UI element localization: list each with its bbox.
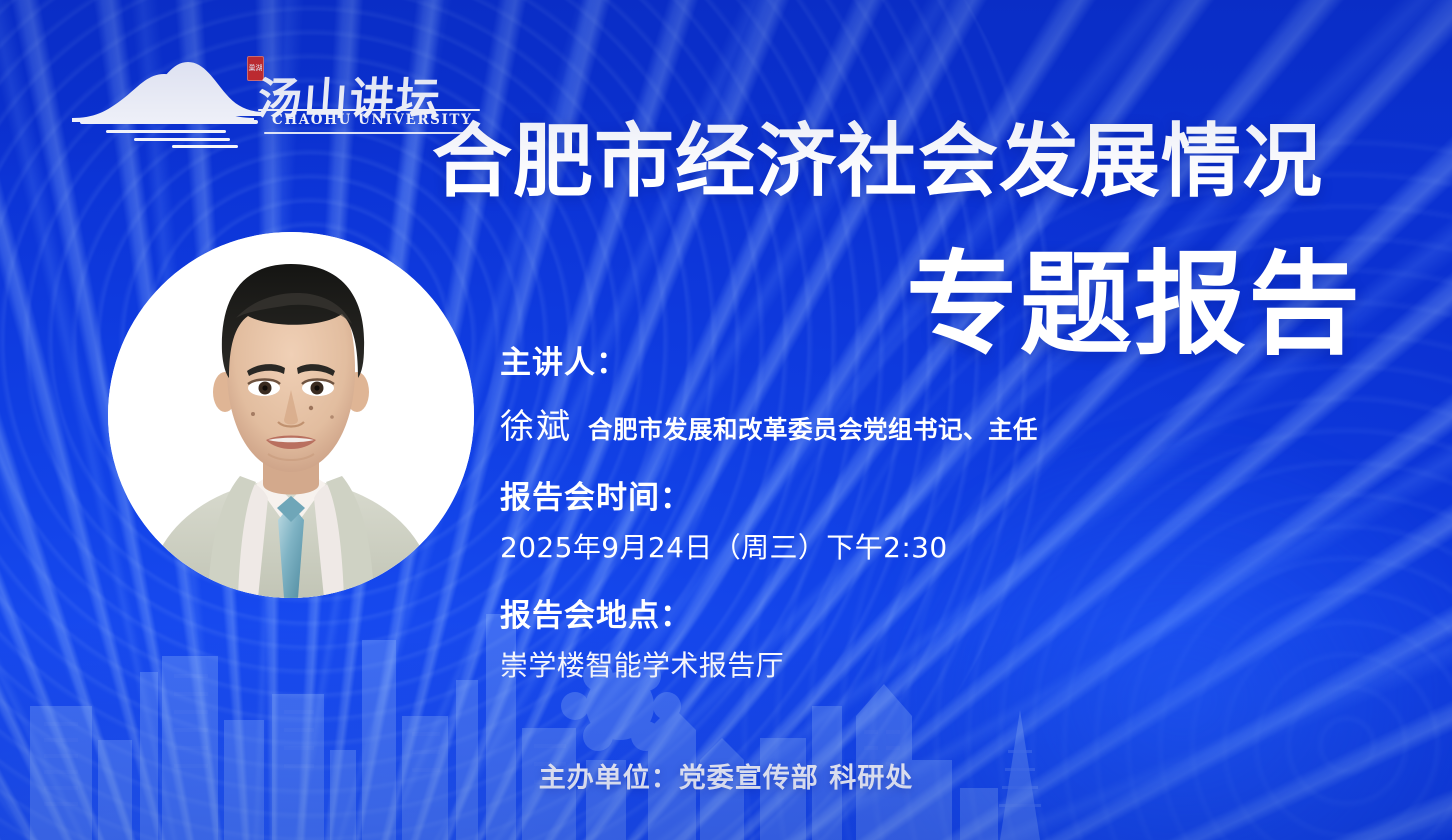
poster-canvas: 巢湖 汤山讲坛 CHAOHU UNIVERSITY xyxy=(0,0,1452,840)
poster-title-line-1: 合肥市经济社会发展情况 xyxy=(432,118,1362,206)
brand-logo: 巢湖 汤山讲坛 CHAOHU UNIVERSITY xyxy=(72,50,417,150)
venue-label: 报告会地点： xyxy=(500,597,1380,636)
time-label: 报告会时间： xyxy=(500,479,1380,518)
event-details: 主讲人： 徐斌 合肥市发展和改革委员会党组书记、主任 报告会时间： 2025年9… xyxy=(500,344,1380,684)
speaker-name: 徐斌 xyxy=(500,399,572,448)
speaker-title: 合肥市发展和改革委员会党组书记、主任 xyxy=(588,411,1038,446)
speaker-row: 徐斌 合肥市发展和改革委员会党组书记、主任 xyxy=(500,399,1380,448)
speaker-portrait-illustration xyxy=(108,232,474,598)
organizers-line: 主办单位：党委宣传部 科研处 xyxy=(0,756,1452,795)
venue-value: 崇学楼智能学术报告厅 xyxy=(500,648,1380,684)
time-value: 2025年9月24日（周三）下午2:30 xyxy=(500,530,1380,566)
speaker-avatar xyxy=(108,232,474,598)
speaker-label: 主讲人： xyxy=(500,344,1380,383)
logo-divider-top xyxy=(258,109,480,111)
